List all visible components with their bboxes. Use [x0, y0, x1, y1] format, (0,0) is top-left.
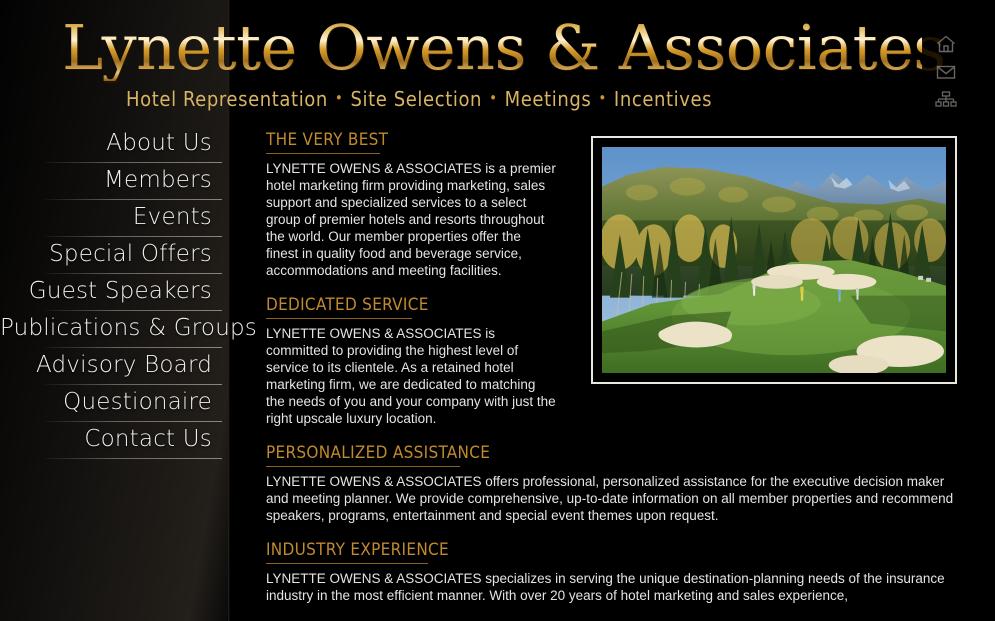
- sidebar-item-label: About Us: [0, 126, 212, 160]
- site-tagline: Hotel Representation•Site Selection•Meet…: [126, 86, 712, 111]
- section-heading: PERSONALIZED ASSISTANCE: [266, 443, 490, 466]
- tagline-part: Meetings: [505, 87, 592, 111]
- section-heading-wrap: INDUSTRY EXPERIENCE: [266, 540, 956, 564]
- content-section: DEDICATED SERVICELYNETTE OWENS & ASSOCIA…: [266, 295, 556, 427]
- section-heading-wrap: PERSONALIZED ASSISTANCE: [266, 443, 956, 467]
- utility-icon-bar: [935, 33, 959, 117]
- section-heading-wrap: DEDICATED SERVICE: [266, 295, 556, 319]
- section-heading: INDUSTRY EXPERIENCE: [266, 540, 449, 563]
- section-body: LYNETTE OWENS & ASSOCIATES is committed …: [266, 325, 556, 427]
- section-heading: THE VERY BEST: [266, 130, 388, 153]
- sidebar-item-members[interactable]: Members: [0, 163, 229, 200]
- sidebar-item-label: Events: [0, 200, 212, 234]
- sidebar-item-special-offers[interactable]: Special Offers: [0, 237, 229, 274]
- sidebar-item-about-us[interactable]: About Us: [0, 126, 229, 163]
- golf-course-photo: [602, 147, 946, 373]
- section-heading-wrap: THE VERY BEST: [266, 130, 556, 154]
- sidebar-item-contact-us[interactable]: Contact Us: [0, 422, 229, 459]
- section-heading-rule: [266, 563, 428, 564]
- content-section: INDUSTRY EXPERIENCELYNETTE OWENS & ASSOC…: [266, 540, 956, 604]
- section-heading: DEDICATED SERVICE: [266, 295, 429, 318]
- tagline-separator: •: [482, 89, 505, 107]
- content-section: THE VERY BESTLYNETTE OWENS & ASSOCIATES …: [266, 130, 556, 279]
- sidebar-item-label: Advisory Board: [0, 348, 212, 382]
- tagline-part: Incentives: [614, 87, 712, 111]
- section-body: LYNETTE OWENS & ASSOCIATES offers profes…: [266, 473, 956, 524]
- home-icon[interactable]: [935, 33, 957, 55]
- sidebar-item-guest-speakers[interactable]: Guest Speakers: [0, 274, 229, 311]
- tagline-part: Hotel Representation: [126, 87, 328, 111]
- sidebar-item-label: Questionaire: [0, 385, 212, 419]
- sidebar-item-events[interactable]: Events: [0, 200, 229, 237]
- sidebar-separator: [45, 458, 222, 459]
- tagline-separator: •: [328, 89, 351, 107]
- site-title: Lynette Owens & Associates: [62, 15, 922, 81]
- sidebar-item-label: Publications & Groups: [0, 311, 212, 345]
- site-header: Lynette Owens & Associates Lynette Owens…: [0, 0, 995, 122]
- sitemap-icon[interactable]: [935, 89, 957, 111]
- tagline-part: Site Selection: [350, 87, 482, 111]
- sidebar-item-label: Special Offers: [0, 237, 212, 271]
- section-body: LYNETTE OWENS & ASSOCIATES is a premier …: [266, 160, 556, 279]
- content-section: PERSONALIZED ASSISTANCELYNETTE OWENS & A…: [266, 443, 956, 524]
- section-heading-rule: [266, 318, 412, 319]
- golf-course-photo-frame: [591, 136, 957, 384]
- sidebar-item-label: Members: [0, 163, 212, 197]
- section-heading-rule: [266, 153, 380, 154]
- section-heading-rule: [266, 466, 460, 467]
- section-body: LYNETTE OWENS & ASSOCIATES specializes i…: [266, 570, 956, 604]
- main-navigation: About UsMembersEventsSpecial OffersGuest…: [0, 126, 229, 459]
- sidebar-item-label: Contact Us: [0, 422, 212, 456]
- tagline-separator: •: [591, 89, 614, 107]
- page-root: Lynette Owens & Associates Lynette Owens…: [0, 0, 995, 621]
- mail-icon[interactable]: [935, 61, 957, 83]
- sidebar-item-advisory-board[interactable]: Advisory Board: [0, 348, 229, 385]
- sidebar-item-publications-groups[interactable]: Publications & Groups: [0, 311, 229, 348]
- sidebar-item-questionaire[interactable]: Questionaire: [0, 385, 229, 422]
- sidebar-item-label: Guest Speakers: [0, 274, 212, 308]
